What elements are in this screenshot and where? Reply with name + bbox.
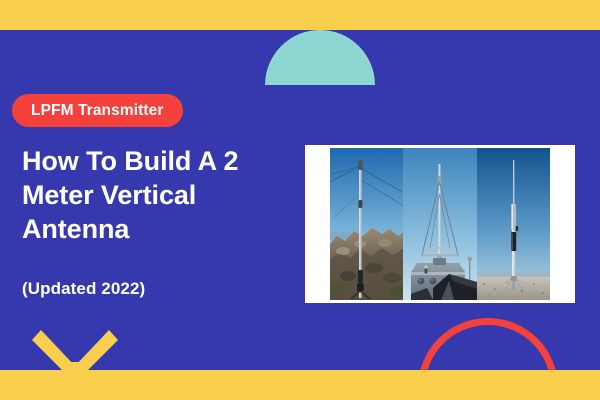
updated-subtitle: (Updated 2022) [22, 279, 145, 299]
teal-semicircle-decoration [265, 30, 375, 85]
antenna-photo-collage [305, 145, 575, 303]
poster-canvas: LPFM Transmitter How To Build A 2 Meter … [0, 0, 600, 400]
photo-ship-mast-antenna [403, 148, 476, 300]
page-title: How To Build A 2 Meter Vertical Antenna [22, 144, 290, 246]
chevron-down-icon [30, 328, 120, 378]
photo-ground-plane-vertical-antenna [477, 148, 550, 300]
category-badge[interactable]: LPFM Transmitter [12, 94, 183, 127]
category-badge-label: LPFM Transmitter [31, 102, 164, 120]
yellow-top-bar [0, 0, 600, 30]
photo-guyed-mast-on-rocky-hilltop [330, 148, 403, 300]
